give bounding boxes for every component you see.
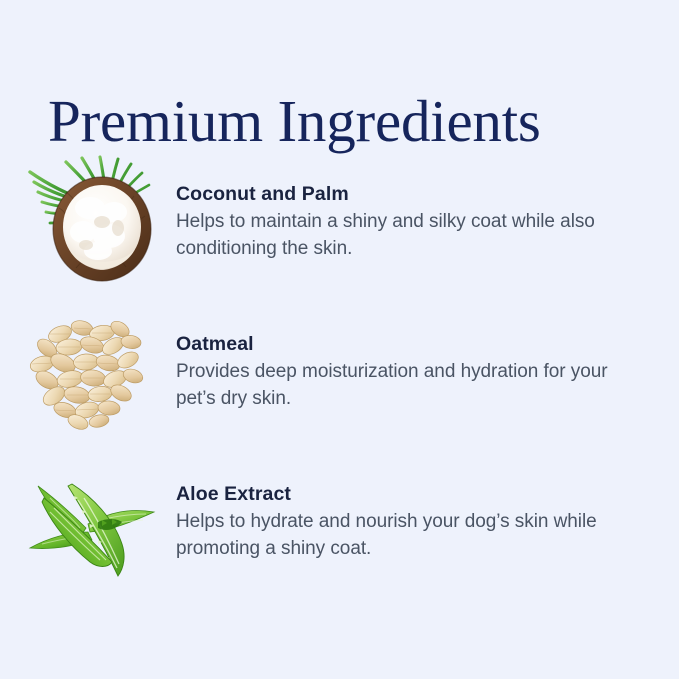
ingredient-description: Provides deep moisturization and hydrati… [176,359,636,413]
aloe-extract-image [14,450,164,590]
ingredient-description: Helps to hydrate and nourish your dog’s … [176,509,636,563]
ingredient-text-block: Oatmeal Provides deep moisturization and… [176,332,636,413]
ingredient-text-block: Coconut and Palm Helps to maintain a shi… [176,182,636,263]
page-title: Premium Ingredients [48,91,541,153]
coconut-and-palm-image [14,150,164,290]
ingredient-description: Helps to maintain a shiny and silky coat… [176,209,636,263]
ingredient-list: Coconut and Palm Helps to maintain a shi… [0,150,679,600]
ingredient-name: Aloe Extract [176,482,636,506]
ingredient-name: Oatmeal [176,332,636,356]
premium-ingredients-panel: Premium Ingredients [0,0,679,679]
list-item: Oatmeal Provides deep moisturization and… [0,300,679,450]
list-item: Coconut and Palm Helps to maintain a shi… [0,150,679,300]
ingredient-name: Coconut and Palm [176,182,636,206]
ingredient-text-block: Aloe Extract Helps to hydrate and nouris… [176,482,636,563]
list-item: Aloe Extract Helps to hydrate and nouris… [0,450,679,600]
oatmeal-image [14,300,164,440]
